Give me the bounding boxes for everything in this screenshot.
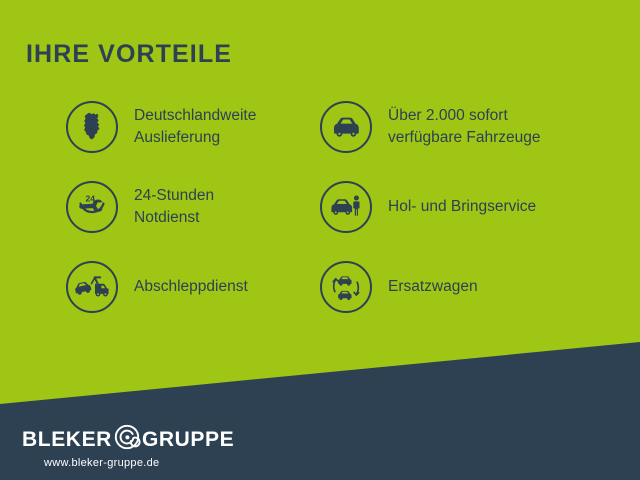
brand-logo[interactable]: BLEKER GRUPPE www.bleker-gruppe.de: [22, 425, 234, 469]
two-cars-cycle-icon: [320, 261, 372, 313]
feature-item-verfuegbare-fahrzeuge[interactable]: Über 2.000 sofort verfügbare Fahrzeuge: [320, 92, 541, 162]
feature-item-label: Deutschlandweite Auslieferung: [134, 105, 256, 149]
tow-truck-icon: [66, 261, 118, 313]
feature-item-deutschlandweite-auslieferung[interactable]: Deutschlandweite Auslieferung: [66, 92, 256, 162]
feature-row: 24 24-Stunden Notdienst: [0, 172, 640, 252]
germany-map-icon: [66, 101, 118, 153]
feature-item-24-stunden-notdienst[interactable]: 24 24-Stunden Notdienst: [66, 172, 214, 242]
feature-item-ersatzwagen[interactable]: Ersatzwagen: [320, 252, 478, 322]
feature-item-abschleppdienst[interactable]: Abschleppdienst: [66, 252, 248, 322]
car-with-person-icon: [320, 181, 372, 233]
feature-row: Deutschlandweite Auslieferung Über 2.000…: [0, 92, 640, 172]
feature-item-label: Ersatzwagen: [388, 276, 478, 298]
24h-wrench-icon: 24: [66, 181, 118, 233]
logo-website-url[interactable]: www.bleker-gruppe.de: [44, 457, 234, 469]
car-icon: [320, 101, 372, 153]
feature-item-label: Abschleppdienst: [134, 276, 248, 298]
features-grid: Deutschlandweite Auslieferung Über 2.000…: [0, 92, 640, 332]
feature-item-hol-und-bringservice[interactable]: Hol- und Bringservice: [320, 172, 536, 242]
logo-wordmark-row: BLEKER GRUPPE: [22, 425, 234, 453]
logo-word-bleker: BLEKER: [22, 429, 112, 450]
feature-item-label: Hol- und Bringservice: [388, 196, 536, 218]
feature-item-label: Über 2.000 sofort verfügbare Fahrzeuge: [388, 105, 541, 149]
spiral-icon: [113, 423, 141, 456]
page-title: IHRE VORTEILE: [26, 40, 232, 69]
feature-item-label: 24-Stunden Notdienst: [134, 185, 214, 229]
slide-canvas: IHRE VORTEILE Deutschlandweite Ausliefer…: [0, 0, 640, 480]
logo-word-gruppe: GRUPPE: [142, 429, 234, 450]
feature-row: Abschleppdienst: [0, 252, 640, 332]
